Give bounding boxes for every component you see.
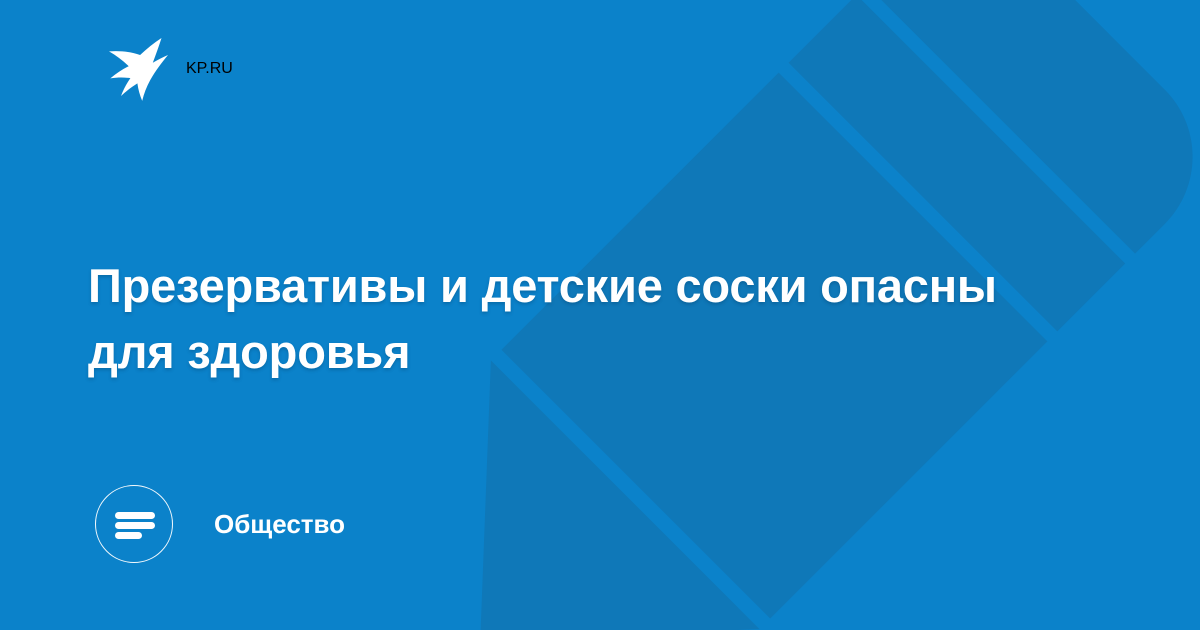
brand-name: KP.RU <box>186 60 233 78</box>
rubric-label: Общество <box>214 511 345 537</box>
rubric[interactable]: Общество <box>95 485 345 563</box>
page-title: Презервативы и детские соски опасны для … <box>88 253 1048 385</box>
menu-bar-2 <box>115 522 155 529</box>
menu-bar-1 <box>115 512 155 519</box>
article-share-card: KP.RU Презервативы и детские соски опасн… <box>0 0 1200 630</box>
hamburger-menu-icon[interactable] <box>95 485 173 563</box>
menu-bar-3 <box>115 532 142 539</box>
swallow-bird-icon <box>104 36 168 102</box>
brand-header[interactable]: KP.RU <box>104 36 233 102</box>
